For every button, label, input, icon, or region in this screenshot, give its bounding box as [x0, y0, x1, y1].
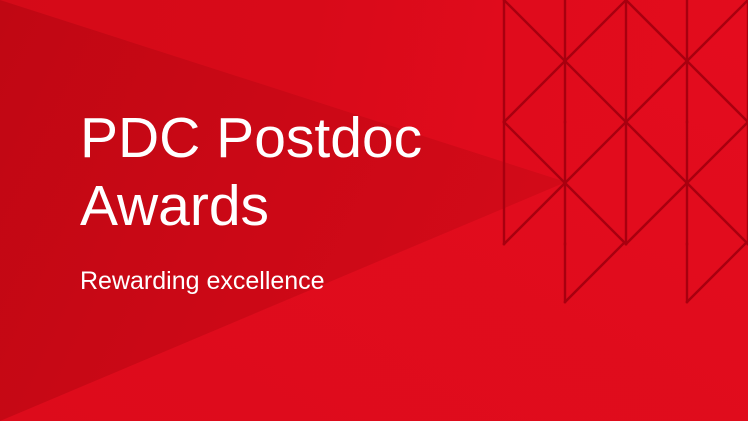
page-title: PDC Postdoc Awards	[80, 104, 500, 240]
slide-subtitle: Rewarding excellence	[80, 240, 500, 297]
slide-canvas: PDC Postdoc Awards Rewarding excellence	[0, 0, 748, 421]
slide-text-block: PDC Postdoc Awards Rewarding excellence	[80, 104, 500, 297]
